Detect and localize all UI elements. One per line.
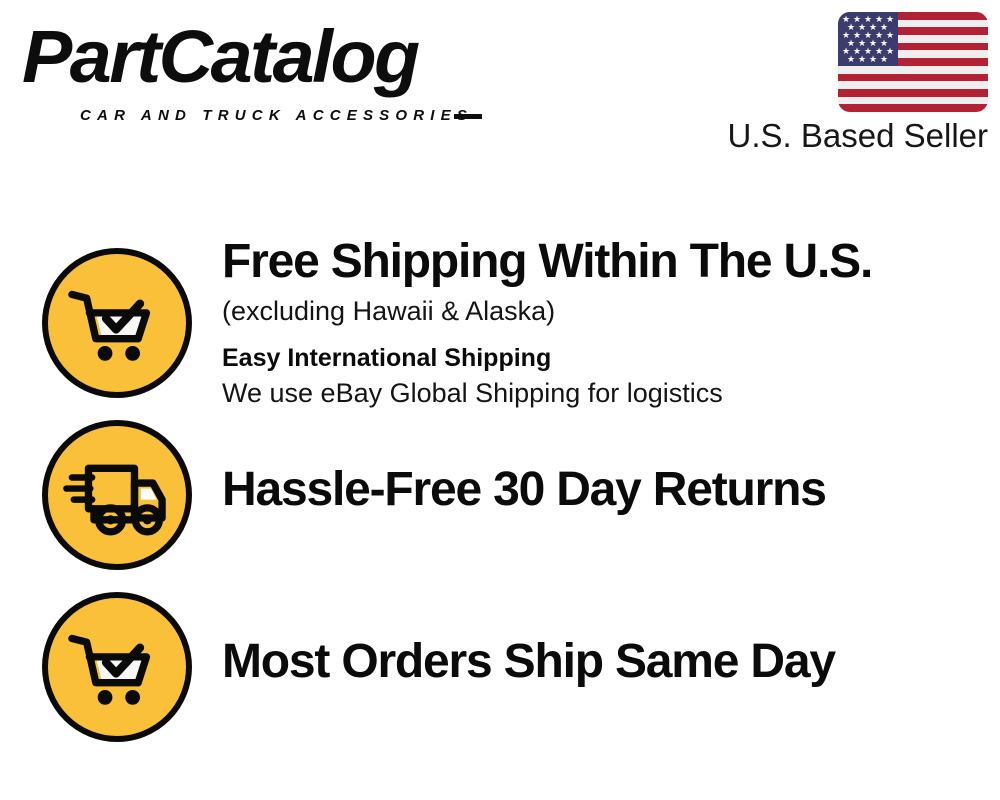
flag-canton: ★ ★ ★ ★ ★ ★ ★ ★ ★ ★ ★ ★ ★ ★ ★ ★ ★ ★ ★ ★ (838, 12, 898, 66)
brand-logo-rule (454, 114, 482, 119)
returns-copy: Hassle-Free 30 Day Returns (222, 462, 826, 518)
us-flag-icon: ★ ★ ★ ★ ★ ★ ★ ★ ★ ★ ★ ★ ★ ★ ★ ★ ★ ★ ★ ★ (838, 12, 988, 112)
free-shipping-headline: Free Shipping Within The U.S. (222, 234, 872, 290)
same-day-headline: Most Orders Ship Same Day (222, 634, 835, 690)
shopping-cart-check-icon (42, 248, 192, 398)
us-flag-graphic: ★ ★ ★ ★ ★ ★ ★ ★ ★ ★ ★ ★ ★ ★ ★ ★ ★ ★ ★ ★ (838, 12, 988, 112)
international-shipping-headline: Easy International Shipping (222, 342, 872, 374)
brand-wordmark: PartCatalog (22, 18, 418, 96)
international-shipping-note: We use eBay Global Shipping for logistic… (222, 376, 872, 410)
brand-tagline: CAR AND TRUCK ACCESSORIES (80, 107, 473, 124)
delivery-truck-icon (42, 420, 192, 570)
free-shipping-copy: Free Shipping Within The U.S. (excluding… (222, 234, 872, 410)
same-day-copy: Most Orders Ship Same Day (222, 634, 835, 690)
feature-row-returns: Hassle-Free 30 Day Returns (0, 420, 1000, 570)
free-shipping-note: (excluding Hawaii & Alaska) (222, 294, 872, 328)
banner-header: PartCatalog CAR AND TRUCK ACCESSORIES ★ … (0, 0, 1000, 175)
feature-row-free-shipping: Free Shipping Within The U.S. (excluding… (0, 228, 1000, 418)
feature-row-same-day-shipping: Most Orders Ship Same Day (0, 592, 1000, 742)
returns-headline: Hassle-Free 30 Day Returns (222, 462, 826, 518)
shopping-cart-check-icon (42, 592, 192, 742)
brand-logo: PartCatalog CAR AND TRUCK ACCESSORIES (22, 18, 492, 123)
us-based-seller-label: U.S. Based Seller (722, 116, 988, 156)
